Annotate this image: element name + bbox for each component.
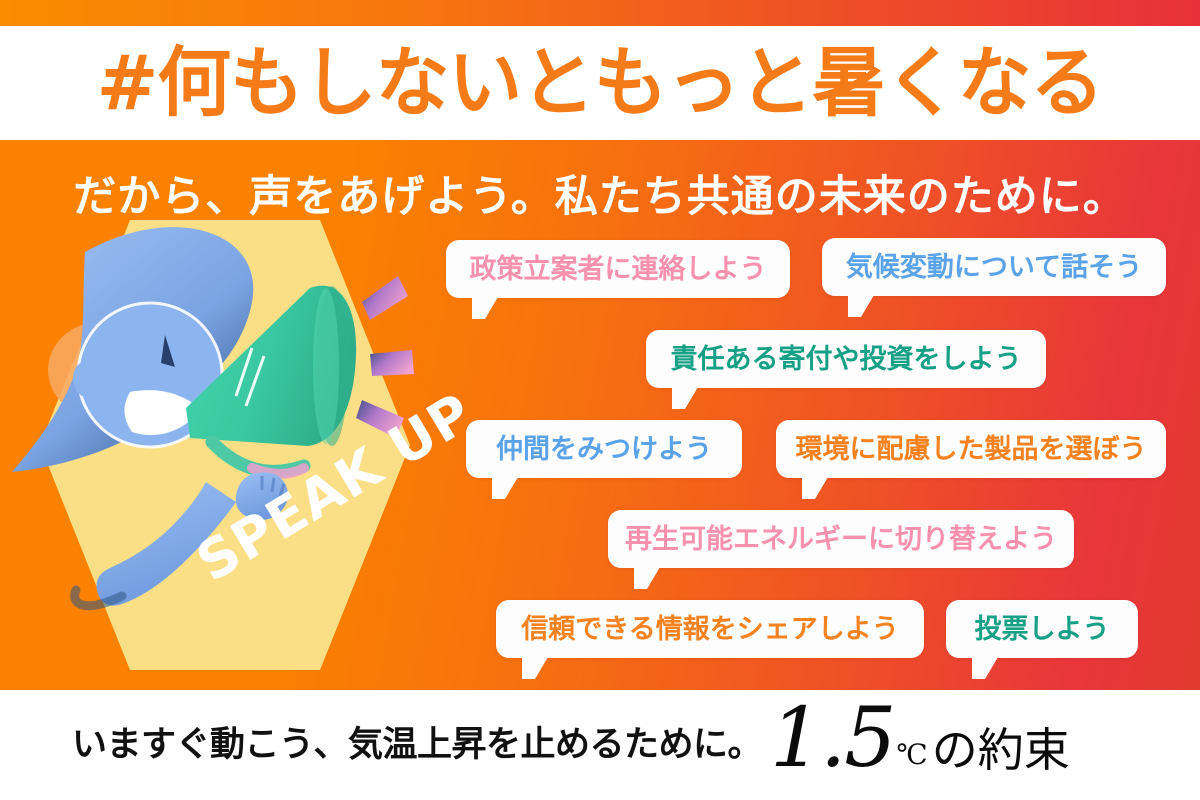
promise-number: 1.5 — [770, 698, 894, 780]
action-bubble-talk-climate-change[interactable]: 気候変動について話そう — [822, 238, 1166, 296]
action-bubble-choose-eco-products[interactable]: 環境に配慮した製品を選ぼう — [776, 420, 1166, 478]
action-bubble-label: 環境に配慮した製品を選ぼう — [776, 436, 1167, 463]
megaphone-person-illustration: SPEAK UP — [0, 210, 440, 680]
bubble-tail — [972, 657, 998, 679]
bubble-tail — [802, 477, 828, 499]
main-gradient-body: だから、声をあげよう。私たち共通の未来のために。 — [0, 140, 1200, 690]
action-bubble-label: 仲間をみつけよう — [476, 436, 732, 463]
bubble-tail — [492, 477, 518, 499]
action-bubble-responsible-donation[interactable]: 責任ある寄付や投資をしよう — [646, 330, 1046, 388]
bubble-tail — [472, 297, 498, 319]
bubble-tail — [634, 567, 660, 589]
page-title: #何もしないともっと暑くなる — [97, 45, 1104, 121]
footer: いますぐ動こう、気温上昇を止めるために。 1.5 ℃ の約束 — [0, 690, 1200, 800]
action-bubble-label: 信頼できる情報をシェアしよう — [501, 616, 918, 643]
action-bubble-label: 再生可能エネルギーに切り替えよう — [605, 526, 1077, 553]
footer-call-to-action: いますぐ動こう、気温上昇を止めるために。 — [72, 716, 762, 767]
action-bubble-label: 政策立案者に連絡しよう — [450, 256, 787, 283]
bubble-tail — [522, 657, 548, 679]
action-bubble-label: 投票しよう — [955, 616, 1130, 643]
action-bubble-contact-policymakers[interactable]: 政策立案者に連絡しよう — [446, 240, 790, 298]
degree-celsius-symbol: ℃ — [896, 741, 927, 769]
action-bubble-label: 責任ある寄付や投資をしよう — [651, 346, 1042, 373]
climate-action-poster: #何もしないともっと暑くなる だから、声をあげよう。私たち共通の未来のために。 — [0, 0, 1200, 800]
action-bubble-share-trusted-info[interactable]: 信頼できる情報をシェアしよう — [496, 600, 924, 658]
action-bubble-switch-renewables[interactable]: 再生可能エネルギーに切り替えよう — [608, 510, 1074, 568]
bubble-tail — [848, 295, 874, 317]
one-point-five-promise: 1.5 ℃ の約束 — [770, 698, 1070, 788]
action-bubble-vote[interactable]: 投票しよう — [946, 600, 1138, 658]
bubble-tail — [672, 387, 698, 409]
promise-suffix: の約束 — [932, 727, 1070, 773]
action-bubble-find-allies[interactable]: 仲間をみつけよう — [466, 420, 742, 478]
headline-band: #何もしないともっと暑くなる — [0, 26, 1200, 140]
top-gradient-strip — [0, 0, 1200, 26]
action-bubble-label: 気候変動について話そう — [826, 254, 1162, 281]
